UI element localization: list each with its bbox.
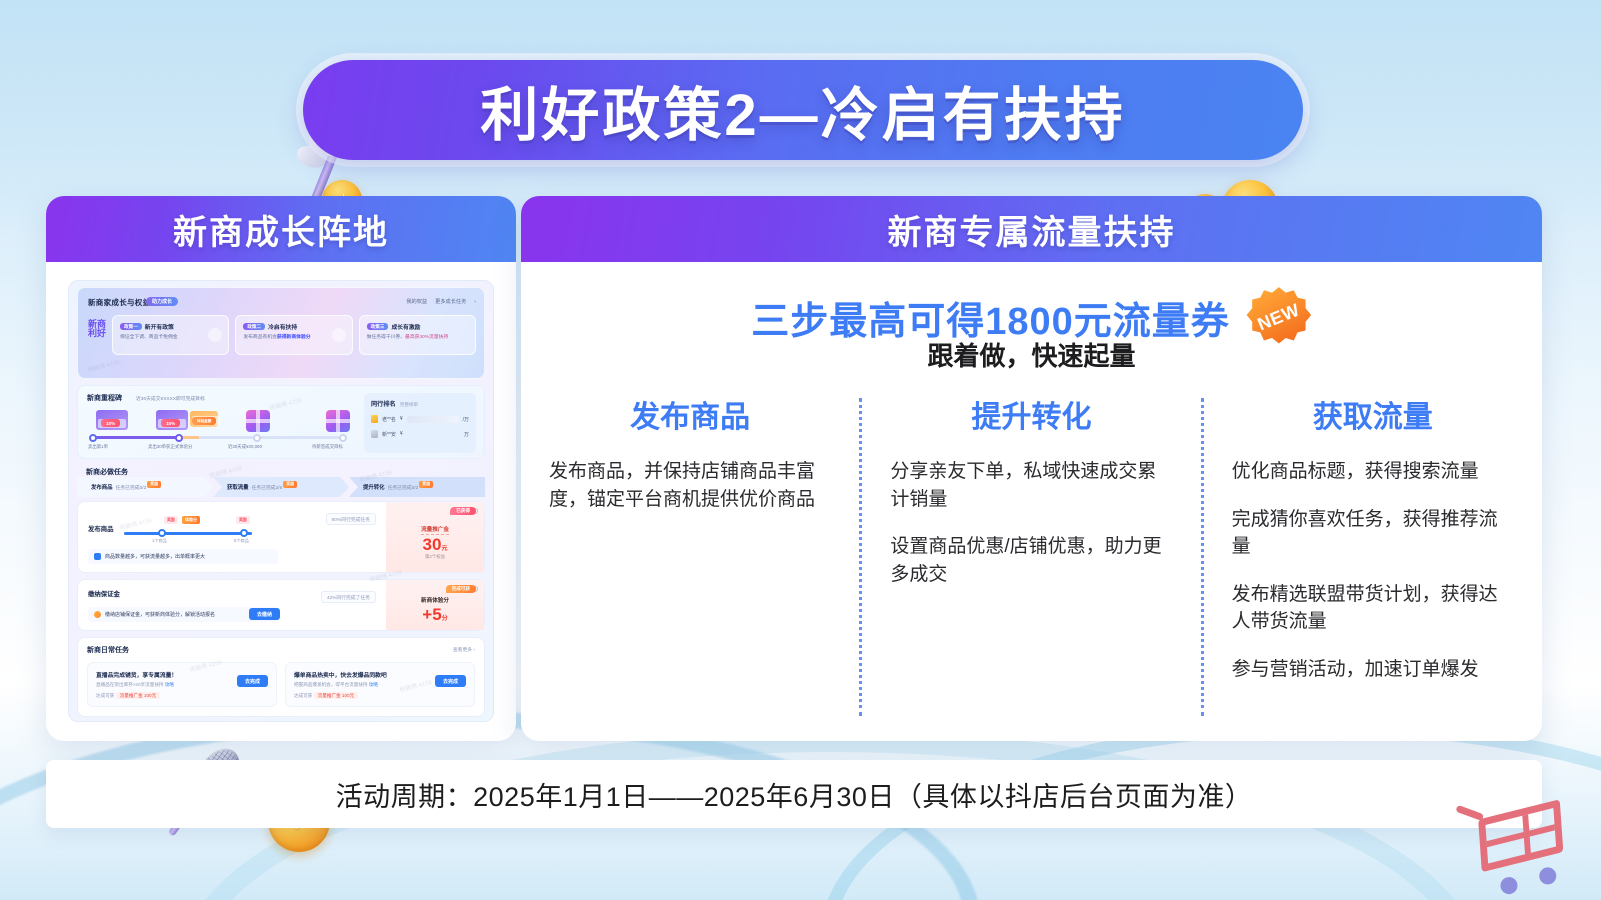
task-left: 发布商品 90%同行完成任务 奖励 体验分 奖励 1个商品 5个商品 商品数量越… [78, 502, 386, 572]
policy-desc: 做任务得千川券、最高获30%流量扶持 [367, 335, 468, 341]
reward-status-badge: 已获得 [450, 507, 476, 515]
currency-symbol: ¥ [400, 431, 403, 437]
step-get-traffic[interactable]: 获取流量 任务已完成2/6 奖励 [213, 477, 349, 497]
step-progress: 任务已完成0/2 [388, 484, 419, 491]
reward-value: +5分 [422, 606, 447, 623]
daily-task-reward: 达成可获 流量推广金 100元 [294, 693, 466, 699]
milestone-node [253, 434, 261, 442]
task-slider[interactable] [124, 532, 252, 535]
policy-card[interactable]: 政策二冷启有扶持 发布商品有机会获得新商体验分 [235, 315, 352, 355]
daily-title: 新商日常任务 [87, 645, 129, 655]
step-reward-badge: 奖励 [147, 481, 161, 488]
step-label: 获取流量 [227, 483, 249, 491]
peer-name: 新**安 [382, 431, 396, 438]
daily-task-card[interactable]: 直播品完成铺货，享专属流量！ 直播品在架出库存>20享流量扶持 攻略 达成可获 … [87, 662, 277, 707]
column-heading: 提升转化 [890, 392, 1172, 436]
right-panel: 新商专属流量扶持 三步最高可得1800元流量券 NEW 跟着做，快速起量 发布商… [521, 196, 1542, 741]
peer-ranking-subtitle[interactable]: 完整榜单 [400, 402, 418, 407]
milestone-card: 新商重程碑 近30天成交¥XXXX即可完成目标 10% 15% 体验金额 卖出第… [77, 385, 485, 459]
peer-ranking-title: 同行排名 [371, 399, 396, 408]
column-improve-conversion: 提升转化 分享亲友下单，私域快速成交累计销量 设置商品优惠/店铺优惠，助力更多成… [862, 392, 1200, 722]
task-tip-text: 缴纳店铺保证金，可获新商体验分，解锁活动报名 [105, 611, 215, 618]
task-peer-progress: 42%同行完成了任务 [321, 591, 376, 603]
reward-name: 新商体验分 [421, 596, 449, 605]
strategy-link[interactable]: 攻略 [165, 682, 174, 687]
reward-value: 30元 [423, 536, 448, 553]
task-tip: 商品数量越多，可获流量越多，出单概率更大 [88, 549, 278, 564]
peer-ranking-row: 老**名 ¥ /万 [371, 415, 469, 423]
peer-ranking-row: 新**安 ¥ 万 [371, 430, 469, 438]
step-progress: 任务已完成2/6 [252, 484, 283, 491]
policy-name: 冷启有扶持 [268, 325, 297, 331]
milestone-chip: 体验金额 [192, 417, 216, 425]
masked-value-bar [407, 416, 459, 423]
column-bullet: 发布商品，并保持店铺商品丰富度，锚定平台商机提供优价商品 [549, 458, 831, 513]
milestone-step-label: 卖出30单获正式体验分 [148, 444, 192, 450]
daily-card-list: 直播品完成铺货，享专属流量！ 直播品在架出库存>20享流量扶持 攻略 达成可获 … [87, 662, 475, 707]
page-title-bar: 利好政策2—冷启有扶持 [303, 60, 1303, 160]
dashboard-hero-pill: 助力成长 [146, 297, 178, 306]
left-panel: 新商成长阵地 新商家成长与权益 助力成长 我的权益 更多成长任务 › 新商 利好… [46, 196, 516, 741]
task-tag: 体验分 [182, 516, 200, 524]
reward-status-badge: 完成可获 [446, 585, 476, 593]
peer-name: 老**名 [382, 416, 396, 423]
reward-sub[interactable]: 第2个权益 [425, 554, 445, 560]
column-bullet: 发布精选联盟带货计划，获得达人带货流量 [1232, 581, 1514, 636]
peer-ranking-card: 同行排名完整榜单 老**名 ¥ /万 新**安 ¥ 万 [364, 393, 476, 453]
must-do-step-bar: 发布商品 任务已完成0/2 奖励 获取流量 任务已完成2/6 奖励 提升转化 任… [77, 477, 485, 497]
footer-bar: 活动周期：2025年1月1日——2025年6月30日（具体以抖店后台页面为准） [46, 760, 1542, 828]
peer-unit: 万 [464, 431, 469, 438]
milestone-node [339, 434, 347, 442]
task-reward: i 已获得 流量推广金 30元 第2个权益 [386, 502, 484, 572]
task-row: 缴纳保证金 42%同行完成了任务 缴纳店铺保证金，可获新商体验分，解锁活动报名 … [77, 579, 485, 631]
page-header: ♪ ♪ 利好政策2—冷启有扶持 ♪ ♪ [0, 60, 1601, 170]
policy-card[interactable]: 政策三成长有激励 做任务得千川券、最高获30%流量扶持 [359, 315, 476, 355]
task-row: 发布商品 90%同行完成任务 奖励 体验分 奖励 1个商品 5个商品 商品数量越… [77, 501, 485, 573]
milestone-gift-icon [326, 410, 350, 432]
policy-tag: 政策三 [367, 323, 389, 330]
column-get-traffic: 获取流量 优化商品标题，获得搜索流量 完成猜你喜欢任务，获得推荐流量 发布精选联… [1204, 392, 1542, 722]
milestone-subtitle: 近30天成交¥XXXX即可完成目标 [136, 395, 205, 402]
policy-tag: 政策一 [120, 323, 142, 330]
milestone-node [175, 434, 183, 442]
policy-card[interactable]: 政策一新开有政策 保证全下调、商品卡免佣金 [112, 315, 229, 355]
peer-unit: /万 [463, 416, 469, 423]
milestone-gift-icon [246, 410, 270, 432]
dashboard-hero-title: 新商家成长与权益 [88, 297, 150, 308]
task-name: 发布商品 [88, 524, 114, 533]
daily-task-button[interactable]: 去完成 [435, 675, 466, 687]
column-bullet: 优化商品标题，获得搜索流量 [1232, 458, 1514, 486]
milestone-title: 新商重程碑 [87, 393, 122, 403]
slider-handle[interactable] [158, 529, 166, 537]
task-tag: 奖励 [164, 516, 178, 524]
link-my-benefits[interactable]: 我的权益 [406, 298, 427, 305]
medal-icon [371, 415, 378, 423]
milestone-chip: 10% [101, 419, 120, 427]
dashboard-hero: 新商家成长与权益 助力成长 我的权益 更多成长任务 › 新商 利好 政策一新开有… [77, 287, 485, 379]
task-peer-progress: 90%同行完成任务 [326, 513, 376, 525]
page-title: 利好政策2—冷启有扶持 [480, 68, 1125, 152]
task-action-button[interactable]: 去缴纳 [249, 608, 280, 620]
milestone-step-label: 待新签成交目标 [312, 444, 343, 450]
must-do-section: 新商必做任务 [77, 467, 485, 477]
right-panel-header: 新商专属流量扶持 [521, 196, 1542, 262]
currency-symbol: ¥ [400, 416, 403, 422]
step-publish-product[interactable]: 发布商品 任务已完成0/2 奖励 [77, 477, 213, 497]
must-do-title: 新商必做任务 [86, 467, 128, 477]
milestone-step-label: 卖出第1单 [88, 444, 108, 450]
chevron-right-icon: › [474, 299, 476, 305]
milestone-node [89, 434, 97, 442]
task-reward: i 完成可获 新商体验分 +5分 [386, 580, 484, 630]
column-heading: 发布商品 [549, 392, 831, 436]
daily-tasks-card: 新商日常任务 查看更多 › 直播品完成铺货，享专属流量！ 直播品在架出库存>20… [77, 637, 485, 717]
slider-label-left: 1个商品 [152, 538, 167, 544]
left-panel-header: 新商成长阵地 [46, 196, 516, 262]
slider-label-right: 5个商品 [234, 538, 249, 544]
dashboard-hero-side-label: 新商 利好 [88, 320, 106, 339]
policy-name: 新开有政策 [145, 325, 174, 331]
medal-icon [371, 430, 378, 438]
daily-task-card[interactable]: 爆单商品热卖中，快去发爆品同款吧 把握商品爆发机会，得平台流量扶持 攻略 达成可… [285, 662, 475, 707]
policy-tag: 政策二 [243, 323, 265, 330]
policy-name: 成长有激励 [391, 325, 420, 331]
column-bullet: 完成猜你喜欢任务，获得推荐流量 [1232, 506, 1514, 561]
step-label: 发布商品 [91, 483, 113, 491]
right-panel-columns: 发布商品 发布商品，并保持店铺商品丰富度，锚定平台商机提供优价商品 提升转化 分… [521, 392, 1542, 722]
task-tag: 奖励 [236, 516, 250, 524]
link-more-tasks[interactable]: 更多成长任务 [435, 298, 466, 305]
milestone-chip: 15% [161, 419, 180, 427]
masked-value-bar [407, 431, 460, 438]
policy-desc: 保证全下调、商品卡免佣金 [120, 335, 221, 341]
policy-desc: 发布商品有机会获得新商体验分 [243, 335, 344, 341]
daily-task-reward: 达成可获 流量推广金 100元 [96, 693, 268, 699]
info-square-icon [94, 553, 101, 560]
task-name: 缴纳保证金 [88, 589, 120, 598]
slider-handle[interactable] [240, 529, 248, 537]
decorative-orb [332, 328, 346, 342]
daily-task-button[interactable]: 去完成 [237, 675, 268, 687]
milestone-progress-track [92, 436, 347, 439]
task-tip-text: 商品数量越多，可获流量越多，出单概率更大 [105, 553, 205, 560]
column-bullet: 参与营销活动，加速订单爆发 [1232, 656, 1514, 684]
dashboard-hero-links: 我的权益 更多成长任务 › [406, 298, 476, 305]
alert-circle-icon [94, 611, 101, 618]
step-reward-badge: 奖励 [419, 481, 433, 488]
task-left: 缴纳保证金 42%同行完成了任务 缴纳店铺保证金，可获新商体验分，解锁活动报名 … [78, 580, 386, 630]
daily-more-link[interactable]: 查看更多 › [453, 646, 475, 653]
column-bullet: 设置商品优惠/店铺优惠，助力更多成交 [890, 533, 1172, 588]
column-heading: 获取流量 [1232, 392, 1514, 436]
step-label: 提升转化 [363, 483, 385, 491]
step-reward-badge: 奖励 [283, 481, 297, 488]
column-publish-product: 发布商品 发布商品，并保持店铺商品丰富度，锚定平台商机提供优价商品 [521, 392, 859, 722]
column-bullet: 分享亲友下单，私域快速成交累计销量 [890, 458, 1172, 513]
dashboard-policy-list: 政策一新开有政策 保证全下调、商品卡免佣金 政策二冷启有扶持 发布商品有机会获得… [112, 315, 476, 355]
step-improve-conversion[interactable]: 提升转化 任务已完成0/2 奖励 [349, 477, 485, 497]
reward-name: 流量推广金 [421, 525, 449, 535]
step-progress: 任务已完成0/2 [116, 484, 147, 491]
milestone-step-label: 近30天成¥20,000 [228, 444, 262, 450]
left-panel-title: 新商成长阵地 [173, 205, 389, 254]
right-panel-subheadline: 跟着做，快速起量 [521, 336, 1542, 373]
right-panel-title: 新商专属流量扶持 [888, 205, 1176, 254]
strategy-link[interactable]: 攻略 [369, 682, 378, 687]
dashboard-screenshot: 新商家成长与权益 助力成长 我的权益 更多成长任务 › 新商 利好 政策一新开有… [68, 280, 494, 722]
activity-period-note: 活动周期：2025年1月1日——2025年6月30日（具体以抖店后台页面为准） [336, 775, 1253, 814]
